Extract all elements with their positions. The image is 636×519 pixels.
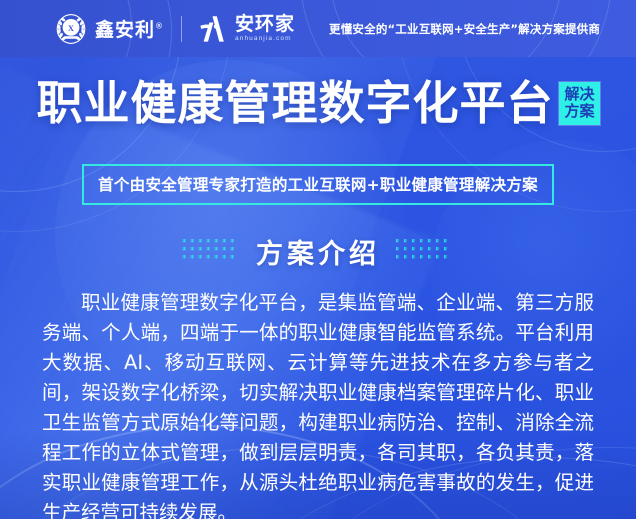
brand-logo-anhuanjia[interactable]: 安环家 anhuanjia.com <box>197 14 295 44</box>
solution-badge-line1: 解决 <box>564 86 594 103</box>
solution-badge: 解决 方案 <box>559 82 599 125</box>
header-tagline: 更懂安全的“工业互联网+安全生产”解决方案提供商 <box>329 21 600 37</box>
brand-logo-anhuanjia-url: anhuanjia.com <box>235 36 295 43</box>
anhuanjia-person-mark-icon <box>197 14 229 44</box>
brand-logo-xinanli-text: 鑫安利® <box>95 15 164 42</box>
dot-grid-icon-left <box>180 236 242 267</box>
solution-description-paragraph: 职业健康管理数字化平台，是集监管端、企业端、第三方服务端、个人端，四端于一体的职… <box>42 288 594 519</box>
page-title: 职业健康管理数字化平台 <box>36 78 553 130</box>
hero-title-block: 职业健康管理数字化平台 解决 方案 <box>0 78 636 130</box>
vertical-divider <box>181 16 182 42</box>
section-title: 方案介绍 <box>256 232 380 271</box>
solution-badge-line2: 方案 <box>564 103 594 120</box>
brand-logo-xinanli[interactable]: X 鑫安利® <box>54 12 164 46</box>
svg-text:X: X <box>68 23 75 33</box>
poster-page: X 鑫安利® <box>0 0 636 519</box>
section-heading-block: 方案介绍 <box>0 232 636 271</box>
dot-grid-icon-right <box>394 236 456 267</box>
page-subtitle: 首个由安全管理专家打造的工业互联网+职业健康管理解决方案 <box>82 164 554 205</box>
header-bar: X 鑫安利® <box>0 0 636 57</box>
brand-logo-anhuanjia-text: 安环家 <box>235 15 295 34</box>
subtitle-block: 首个由安全管理专家打造的工业互联网+职业健康管理解决方案 <box>0 164 636 205</box>
wreath-emblem-icon: X <box>54 12 88 46</box>
